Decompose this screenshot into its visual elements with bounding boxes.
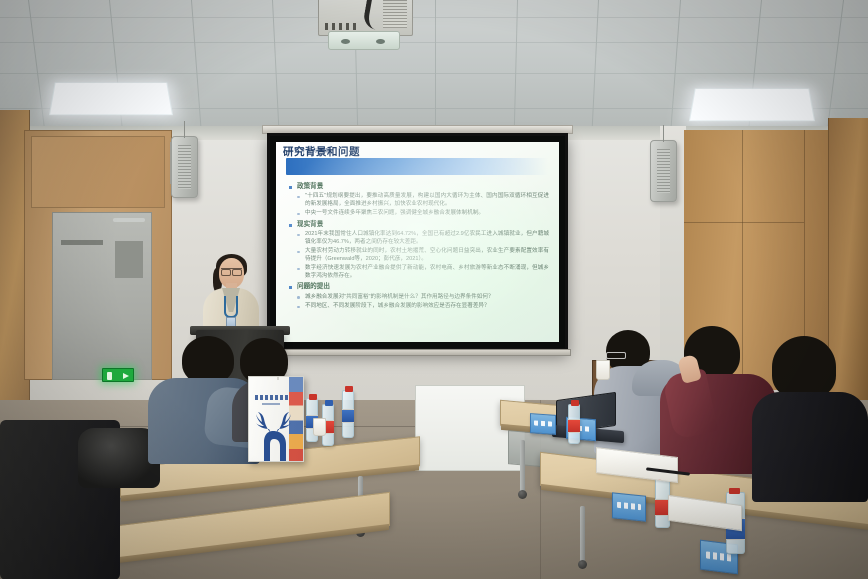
ceiling-grid-line [591,0,601,132]
slide-bullet: 2021年末我国常住人口城镇化率达到64.72%，全国已有超过2.9亿农民工进入… [288,231,549,246]
screen-bottom-weight-bar [264,349,571,356]
slide-bullet: "十四五"规划纲要提出，要推动高质量发展，构建以国内大循环为主体、国内国际双循环… [288,193,549,208]
bottle-cap [309,394,317,400]
panel-seam-1 [742,130,743,390]
ceiling-grid-line [435,0,436,132]
bottle-cap [729,488,740,494]
exit-running-figure-icon [107,372,112,380]
slide-bullet: 不同地区、不同发展阶段下，城乡融合发展的影响效应是否存在显著差异？ [288,303,549,311]
water-bottle [568,404,580,444]
ceiling-grid-line [824,0,848,132]
table-leg [580,506,585,562]
slide-title-bar [286,158,548,175]
speaker-grille-left [178,145,191,189]
name-card [612,492,646,522]
panel-seam-3 [684,222,804,223]
bottle-label [568,419,580,433]
gift-bag-brand-text [255,395,289,400]
ceiling-grid-line [0,17,868,18]
name-card-text [534,421,551,427]
presenter-lanyard [224,296,238,318]
table-caster [578,560,587,569]
gift-bag-brand-subtext [262,403,280,405]
slide-section-heading: 现实背景 [288,221,549,229]
speaker-grille-right [657,149,670,193]
door-decal-stripe [61,240,103,245]
powerpoint-slide: 研究背景与问题 研究背景和问题 政策背景 "十四五"规划纲要提出，要推动高质量发… [276,142,559,342]
mount-bolt-left [341,39,350,44]
projector-cable [362,0,384,30]
presenter-glasses [221,268,242,273]
ceiling-grid-line [0,42,868,43]
slide-bullet: 数字经济快速发展为农村产业融合提供了新动能，农村电商、乡村旅游等新业态不断涌现，… [288,265,549,280]
slide-bullet: 大量农村劳动力转移就业的同时，农村土地撂荒、空心化问题日益突出，农业生产要素配置… [288,248,549,263]
attendee-1-head [182,336,234,384]
suspended-ceiling [0,0,868,132]
attendee-5-head [772,336,836,398]
slide-body: 政策背景 "十四五"规划纲要提出，要推动高质量发展，构建以国内大循环为主体、国内… [288,180,549,336]
mount-bolt-right [376,39,385,44]
slide-bullet: 中央一号文件连续多年聚焦三农问题，强调健全城乡融合发展体制机制。 [288,210,549,218]
conference-room-photo: 研究背景与问题 研究背景和问题 政策背景 "十四五"规划纲要提出，要推动高质量发… [0,0,868,579]
slide-section-heading: 政策背景 [288,183,549,191]
paper-cup [313,418,326,436]
ceiling-grid-line [188,0,203,132]
ceiling-grid-line [0,73,868,74]
deer-logo-icon [253,411,293,461]
water-bottle [342,390,354,438]
ceiling-grid-line [270,0,280,132]
left-glass-door[interactable] [52,212,152,380]
left-door-transom-panel [31,136,165,208]
table-leg [520,440,525,492]
wall-speaker-left [171,136,198,198]
projection-screen: 研究背景与问题 研究背景和问题 政策背景 "十四五"规划纲要提出，要推动高质量发… [267,133,568,351]
wall-speaker-right [650,140,677,202]
projector-mount-plate [328,31,400,50]
projector-controls[interactable] [325,23,359,30]
paper-cup [596,360,610,380]
ceiling-grid-line [668,0,683,132]
bottle-cap [345,386,353,392]
bottle-label [342,409,354,423]
name-card [530,413,556,435]
exit-sign [102,368,134,382]
attendee-5-body [752,392,868,502]
name-card-text [617,502,640,511]
table-caster [518,490,527,499]
ceiling-grid-line [513,0,519,132]
door-push-bar[interactable] [113,218,145,222]
ceiling-light-panel-left [49,82,173,115]
slide-section-heading: 问题的提出 [288,283,549,291]
attendee-3-glasses [606,352,626,359]
bottle-cap [571,400,579,406]
door-notice-patch [115,241,143,278]
bottle-cap [325,400,333,406]
slide-title: 研究背景和问题 [283,144,360,159]
gift-bag [248,376,304,462]
ceiling-light-panel-right [689,88,815,121]
exit-arrow-icon [123,373,129,379]
projector-vent [383,0,407,28]
slide-bullet: 城乡融合发展对"共同富裕"的影响机制是什么？其作用路径与边界条件如何？ [288,294,549,302]
